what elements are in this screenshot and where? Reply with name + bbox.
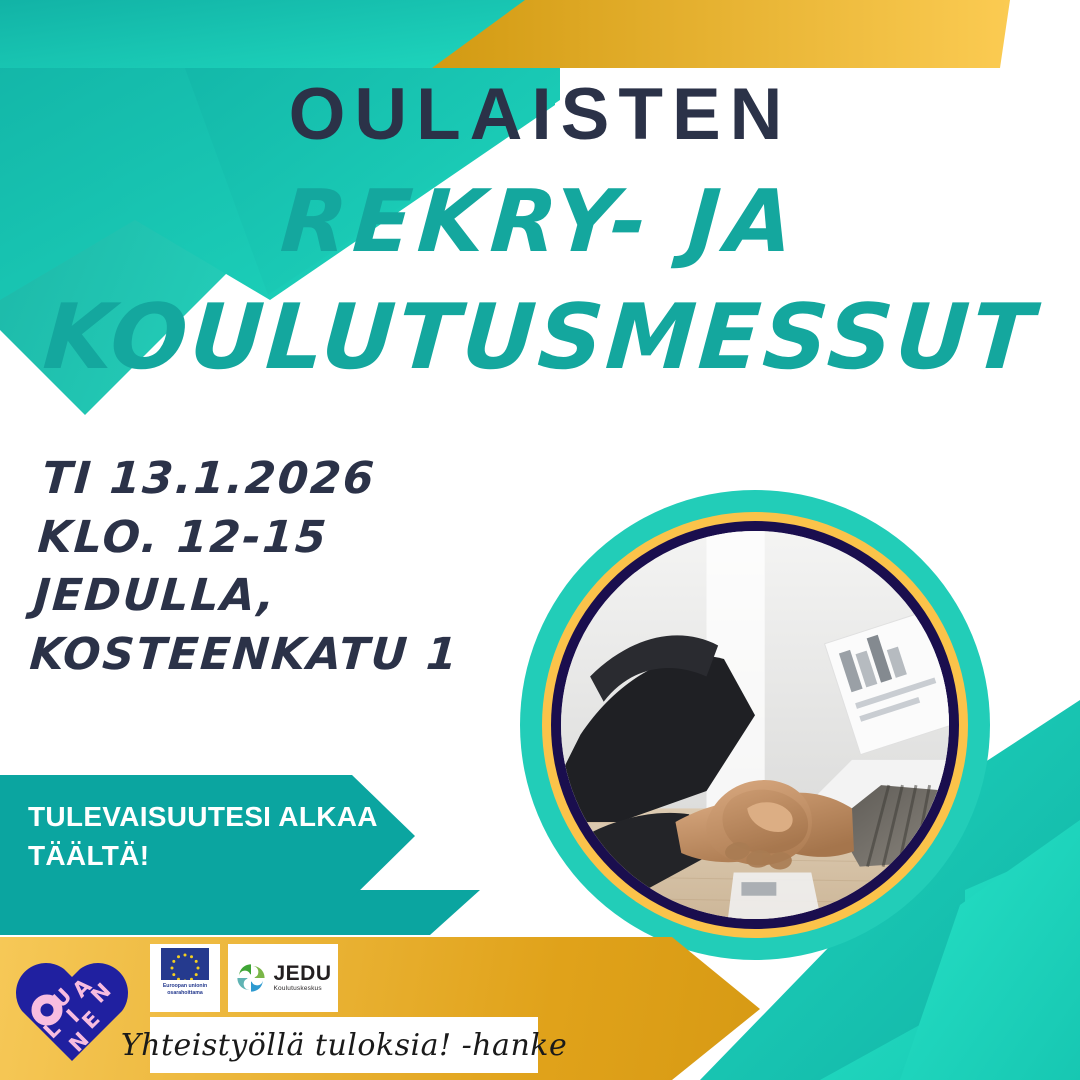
heading-line-2: REKRY- JA — [0, 179, 1080, 265]
eu-caption-line-2: osarahoittama — [153, 990, 217, 997]
eu-flag-icon — [161, 948, 209, 980]
eu-caption-line-1: Euroopan unionin — [153, 983, 217, 990]
oulainen-logo: U L A I N E N — [14, 953, 130, 1065]
jedu-swirl-icon — [234, 961, 268, 995]
handshake-photo — [561, 531, 949, 919]
poster-canvas: OULAISTEN REKRY- JA KOULUTUSMESSUT TI 13… — [0, 0, 1080, 1080]
shape-top-gold-bar — [430, 0, 1010, 68]
heading-block: OULAISTEN REKRY- JA KOULUTUSMESSUT — [0, 78, 1080, 383]
eu-logo: Euroopan unionin osarahoittama — [150, 944, 220, 1012]
hanke-text: Yhteistyöllä tuloksia! -hanke — [121, 1028, 567, 1063]
detail-venue: JEDULLA, — [32, 567, 506, 626]
jedu-logo: JEDU Koulutuskeskus — [228, 944, 338, 1012]
detail-date: TI 13.1.2026 — [40, 450, 514, 509]
detail-time: KLO. 12-15 — [36, 509, 510, 568]
photo-ring-inner — [551, 521, 959, 929]
photo-ring-outer — [520, 490, 990, 960]
slogan-text: TULEVAISUUTESI ALKAA TÄÄLTÄ! — [0, 798, 378, 875]
photo-ring-middle — [542, 512, 968, 938]
slogan-line-2: TÄÄLTÄ! — [28, 837, 378, 876]
jedu-wordmark: JEDU — [273, 963, 331, 984]
slogan-banner: TULEVAISUUTESI ALKAA TÄÄLTÄ! — [0, 775, 415, 898]
eu-caption: Euroopan unionin osarahoittama — [153, 983, 217, 997]
jedu-subtitle: Koulutuskeskus — [273, 986, 331, 993]
detail-address: KOSTEENKATU 1 — [28, 626, 502, 685]
page-title: OULAISTEN — [0, 78, 1080, 151]
slogan-line-1: TULEVAISUUTESI ALKAA — [28, 798, 378, 837]
heading-line-3: KOULUTUSMESSUT — [0, 293, 1080, 383]
event-details: TI 13.1.2026 KLO. 12-15 JEDULLA, KOSTEEN… — [28, 450, 514, 684]
footer-logos: U L A I N E N — [0, 937, 760, 1080]
hanke-logo: Yhteistyöllä tuloksia! -hanke — [150, 1017, 538, 1073]
